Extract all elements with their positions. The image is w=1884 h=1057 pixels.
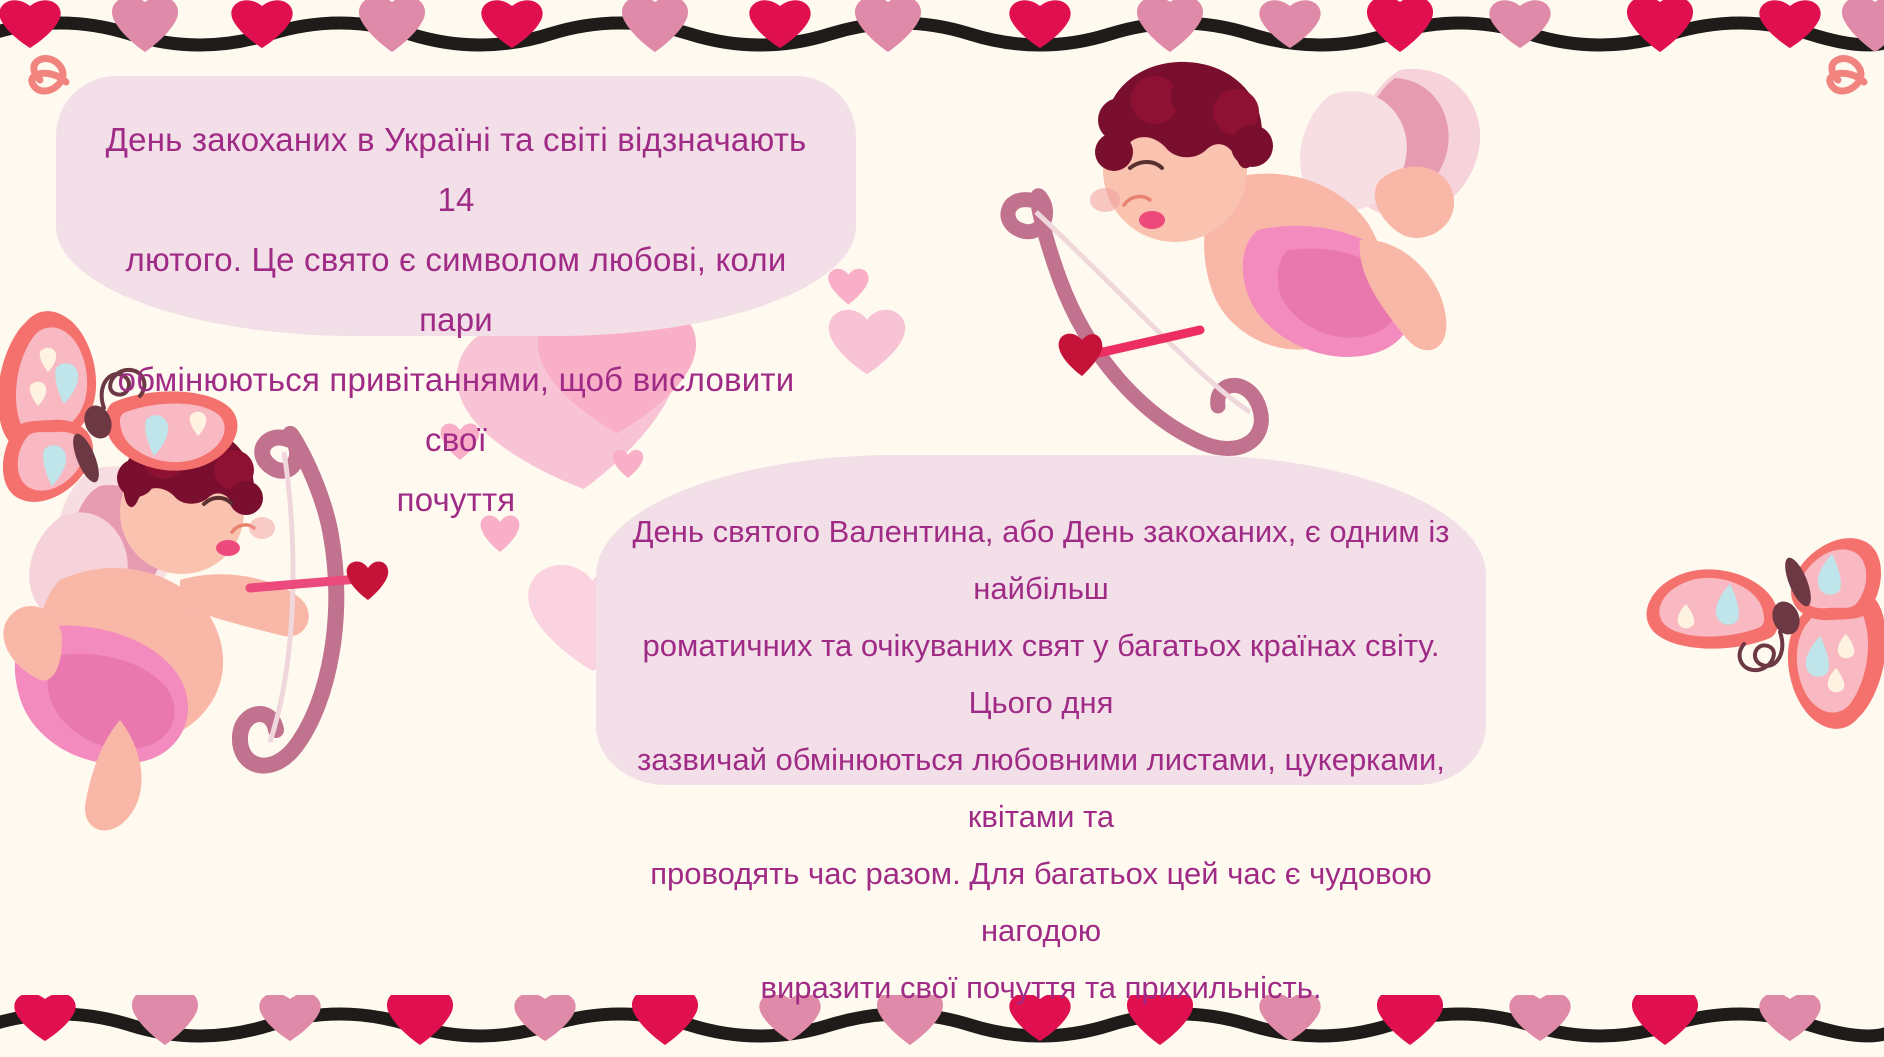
text-bubble-two: День святого Валентина, або День закохан… [596,455,1486,785]
bubble-one-line-1: День закоханих в Україні та світі відзна… [92,110,820,230]
bubble-two-line-4: проводять час разом. Для багатьох цей ча… [626,845,1456,959]
bubble-one-line-2: лютого. Це свято є символом любові, коли… [92,230,820,350]
bubble-one-line-3: обмінюються привітаннями, щоб висловити … [92,350,820,470]
poster-canvas: День закоханих в Україні та світі відзна… [0,0,1884,1057]
text-bubble-one: День закоханих в Україні та світі відзна… [56,76,856,336]
bubble-two-line-1: День святого Валентина, або День закохан… [626,503,1456,617]
heart-soft-right [829,310,905,374]
bubble-two-line-3: зазвичай обмінюються любовними листами, … [626,731,1456,845]
bubble-two-line-2: роматичних та очікуваних свят у багатьох… [626,617,1456,731]
top-border-decoration [0,0,1884,62]
heart-small-upper [828,269,868,305]
bubble-two-line-5: виразити свої почуття та прихильність. [626,959,1456,1016]
